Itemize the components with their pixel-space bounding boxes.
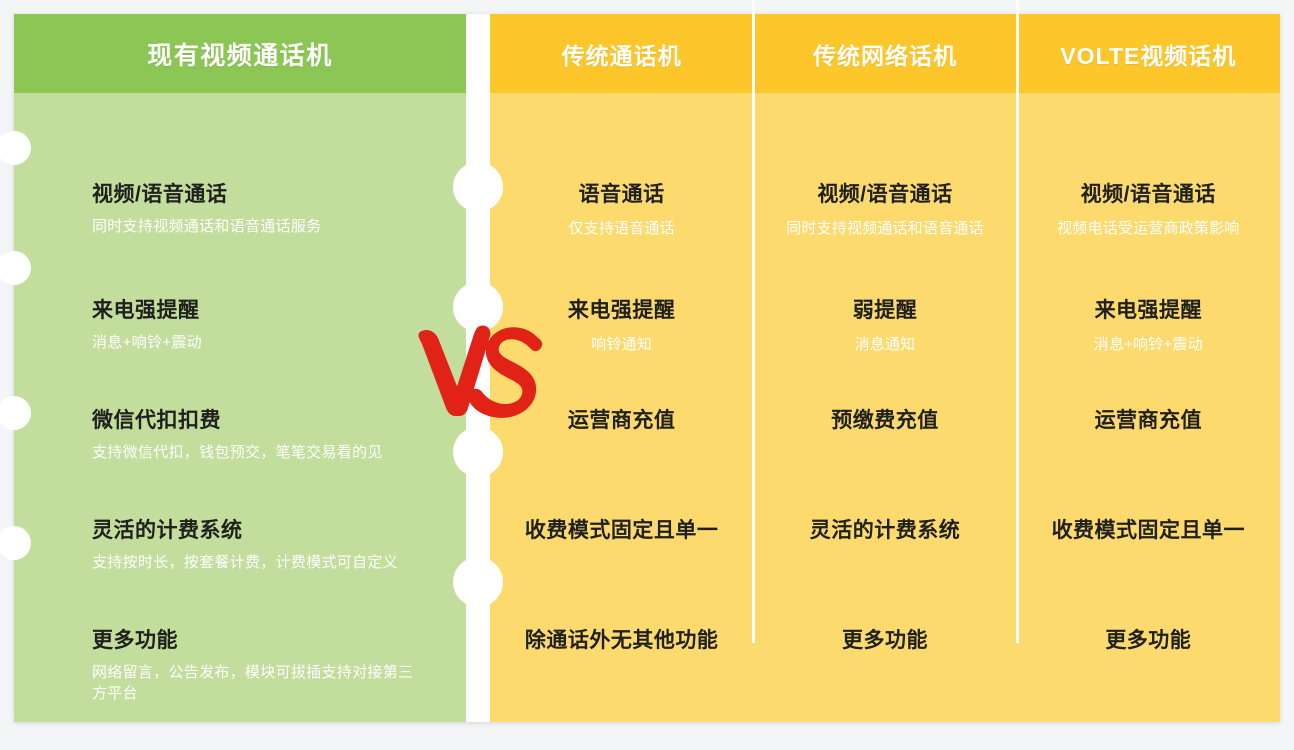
compare-column-title: 传统网络话机 <box>813 37 957 71</box>
compare-row: 运营商充值 <box>1023 407 1274 434</box>
compare-row-title: 来电强提醒 <box>496 297 747 324</box>
compare-row-title: 运营商充值 <box>496 407 747 434</box>
comparison-board: 现有视频通话机 视频/语音通话 同时支持视频通话和语音通话服务 来电强提醒 消息… <box>14 14 1280 722</box>
compare-row-desc: 消息通知 <box>759 334 1010 355</box>
compare-row: 更多功能 <box>759 627 1010 654</box>
compare-row: 弱提醒 消息通知 <box>759 297 1010 355</box>
compare-row-desc: 响铃通知 <box>496 334 747 355</box>
feature-row-desc: 消息+响铃+震动 <box>92 333 446 354</box>
feature-row-title: 视频/语音通话 <box>92 181 446 208</box>
compare-row: 来电强提醒 消息+响铃+震动 <box>1023 297 1274 355</box>
compare-row: 更多功能 <box>1023 627 1274 654</box>
compare-row-title: 收费模式固定且单一 <box>1023 517 1274 544</box>
compare-row: 灵活的计费系统 <box>759 517 1010 544</box>
compare-column-header: 传统网络话机 <box>753 14 1016 93</box>
divider-bead-4 <box>453 557 503 607</box>
compare-row-desc: 仅支持语音通话 <box>496 218 747 239</box>
featured-column-title: 现有视频通话机 <box>147 36 333 72</box>
edge-notch-2 <box>0 251 31 285</box>
compare-row-title: 收费模式固定且单一 <box>496 517 747 544</box>
compare-row-title: 来电强提醒 <box>1023 297 1274 324</box>
compare-row: 运营商充值 <box>496 407 747 434</box>
compare-column-body: 语音通话 仅支持语音通话 来电强提醒 响铃通知 运营商充值 收费模式固定且单一 … <box>490 93 753 722</box>
compare-row: 预缴费充值 <box>759 407 1010 434</box>
edge-notch-4 <box>0 526 31 560</box>
compare-row: 收费模式固定且单一 <box>496 517 747 544</box>
compare-column-network-phone: 传统网络话机 视频/语音通话 同时支持视频通话和语音通话 弱提醒 消息通知 预缴… <box>753 14 1016 722</box>
compare-row-title: 预缴费充值 <box>759 407 1010 434</box>
column-divider <box>752 0 755 643</box>
compare-row-title: 更多功能 <box>1023 627 1274 654</box>
featured-column-header: 现有视频通话机 <box>14 14 466 93</box>
edge-notch-3 <box>0 396 31 430</box>
compare-row: 来电强提醒 响铃通知 <box>496 297 747 355</box>
edge-notch-1 <box>0 131 31 165</box>
divider-bead-2 <box>453 282 503 332</box>
compare-row: 语音通话 仅支持语音通话 <box>496 181 747 239</box>
feature-row-desc: 同时支持视频通话和语音通话服务 <box>92 217 446 238</box>
feature-row-title: 来电强提醒 <box>92 297 446 324</box>
center-divider <box>466 14 490 722</box>
compare-row: 除通话外无其他功能 <box>496 627 747 654</box>
compare-column-header: 传统通话机 <box>490 14 753 93</box>
compare-columns: 传统通话机 语音通话 仅支持语音通话 来电强提醒 响铃通知 运营商充值 收费模式… <box>490 14 1280 722</box>
compare-column-title: 传统通话机 <box>562 37 682 71</box>
divider-bead-1 <box>453 162 503 212</box>
compare-column-title: VOLTE视频话机 <box>1060 37 1236 71</box>
feature-row-desc: 支持微信代扣，钱包预交，笔笔交易看的见 <box>92 443 446 464</box>
compare-row-desc: 同时支持视频通话和语音通话 <box>759 218 1010 239</box>
compare-row-title: 视频/语音通话 <box>1023 181 1274 208</box>
compare-column-body: 视频/语音通话 同时支持视频通话和语音通话 弱提醒 消息通知 预缴费充值 灵活的… <box>753 93 1016 722</box>
feature-row-desc: 网络留言，公告发布，模块可拔插支持对接第三方平台 <box>92 663 426 704</box>
featured-column: 现有视频通话机 视频/语音通话 同时支持视频通话和语音通话服务 来电强提醒 消息… <box>14 14 466 722</box>
feature-row: 更多功能 网络留言，公告发布，模块可拔插支持对接第三方平台 <box>92 627 426 705</box>
compare-row-title: 灵活的计费系统 <box>759 517 1010 544</box>
compare-row-title: 更多功能 <box>759 627 1010 654</box>
feature-row-title: 微信代扣扣费 <box>92 407 446 434</box>
compare-row-title: 弱提醒 <box>759 297 1010 324</box>
column-divider <box>1016 0 1019 643</box>
feature-row-title: 更多功能 <box>92 627 426 654</box>
feature-row-desc: 支持按时长，按套餐计费，计费模式可自定义 <box>92 553 446 574</box>
compare-row-desc: 视频电话受运营商政策影响 <box>1023 218 1274 239</box>
compare-row-title: 除通话外无其他功能 <box>496 627 747 654</box>
divider-bead-3 <box>453 427 503 477</box>
compare-column-header: VOLTE视频话机 <box>1017 14 1280 93</box>
feature-row: 微信代扣扣费 支持微信代扣，钱包预交，笔笔交易看的见 <box>92 407 446 464</box>
compare-row: 视频/语音通话 同时支持视频通话和语音通话 <box>759 181 1010 239</box>
feature-row: 视频/语音通话 同时支持视频通话和语音通话服务 <box>92 181 446 238</box>
compare-column-legacy-phone: 传统通话机 语音通话 仅支持语音通话 来电强提醒 响铃通知 运营商充值 收费模式… <box>490 14 753 722</box>
compare-row-title: 视频/语音通话 <box>759 181 1010 208</box>
compare-row-title: 语音通话 <box>496 181 747 208</box>
compare-row-desc: 消息+响铃+震动 <box>1023 334 1274 355</box>
feature-row: 来电强提醒 消息+响铃+震动 <box>92 297 446 354</box>
compare-column-body: 视频/语音通话 视频电话受运营商政策影响 来电强提醒 消息+响铃+震动 运营商充… <box>1017 93 1280 722</box>
feature-row-title: 灵活的计费系统 <box>92 517 446 544</box>
featured-column-rows: 视频/语音通话 同时支持视频通话和语音通话服务 来电强提醒 消息+响铃+震动 微… <box>14 93 466 722</box>
feature-row: 灵活的计费系统 支持按时长，按套餐计费，计费模式可自定义 <box>92 517 446 574</box>
compare-row: 视频/语音通话 视频电话受运营商政策影响 <box>1023 181 1274 239</box>
compare-row: 收费模式固定且单一 <box>1023 517 1274 544</box>
compare-column-volte-phone: VOLTE视频话机 视频/语音通话 视频电话受运营商政策影响 来电强提醒 消息+… <box>1017 14 1280 722</box>
compare-row-title: 运营商充值 <box>1023 407 1274 434</box>
